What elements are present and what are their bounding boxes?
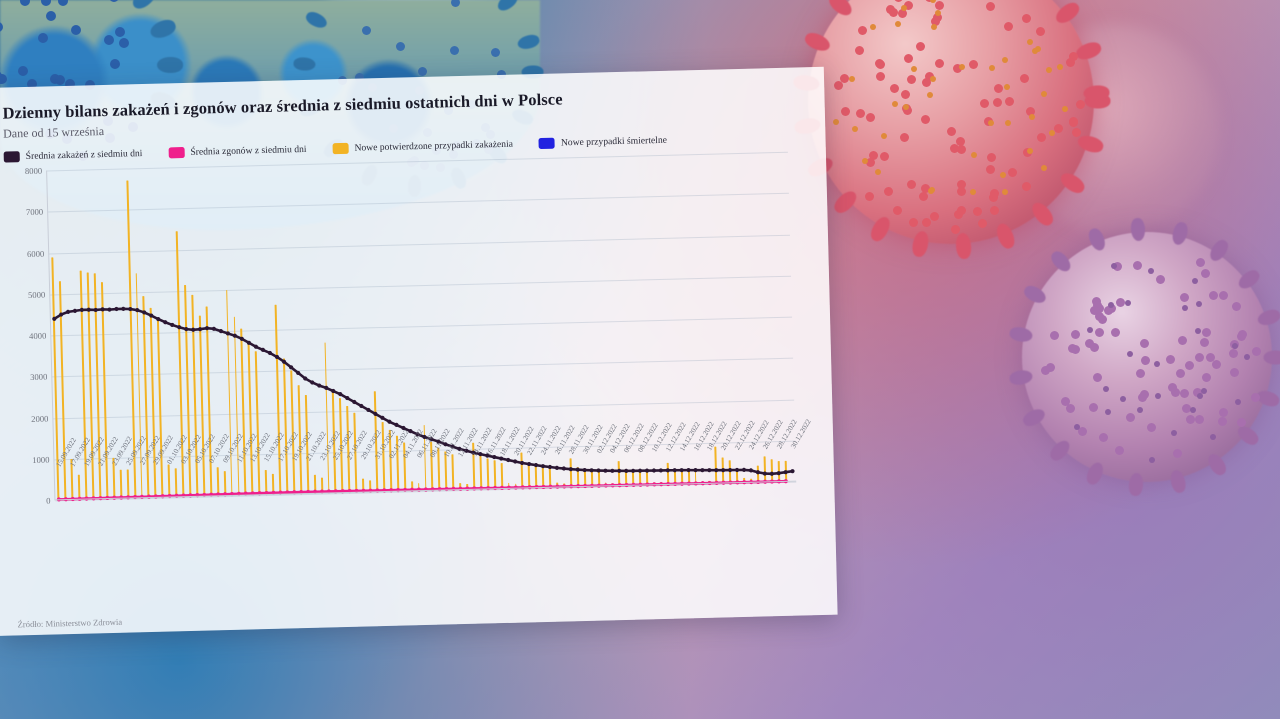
virus-surface-dot (1103, 386, 1109, 392)
y-axis-tick-label: 8000 (25, 166, 42, 176)
virus-surface-dot (115, 27, 125, 37)
virus-surface-dot (1027, 39, 1033, 45)
virus-surface-dot (1050, 331, 1059, 340)
virus-surface-dot (1076, 100, 1085, 109)
virus-surface-dot (110, 59, 120, 69)
y-axis-tick-label: 1000 (32, 454, 49, 464)
virus-surface-dot (978, 219, 987, 228)
virus-surface-dot (901, 5, 907, 11)
virus-surface-dot (46, 11, 56, 21)
virus-surface-dot (418, 67, 427, 76)
virus-surface-dot (1138, 393, 1147, 402)
y-axis-tick-label: 0 (46, 496, 51, 506)
virus-surface-dot (1200, 338, 1209, 347)
virus-surface-dot (876, 72, 885, 81)
virus-surface-dot (1087, 327, 1093, 333)
virus-surface-dot (935, 10, 941, 16)
virus-surface-dot (1005, 97, 1014, 106)
virus-surface-dot (1154, 361, 1160, 367)
virus-surface-dot (1027, 148, 1033, 154)
virus-surface-dot (1115, 446, 1124, 455)
virus-surface-dot (1093, 373, 1102, 382)
virus-surface-dot (989, 65, 995, 71)
data-point-marker (107, 307, 111, 311)
y-axis-tick-label: 4000 (29, 331, 46, 341)
virus-surface-dot (1071, 345, 1080, 354)
virus-surface-dot (880, 152, 889, 161)
legend-new-deaths[interactable]: Nowe przypadki śmiertelne (539, 135, 667, 149)
virus-surface-dot (947, 127, 956, 136)
virus-surface-dot (930, 212, 939, 221)
legend-cases-average[interactable]: Średnia zakażeń z siedmiu dni (4, 148, 143, 163)
virus-surface-dot (1201, 388, 1207, 394)
legend-new-cases[interactable]: Nowe potwierdzone przypadki zakażenia (332, 139, 513, 155)
virus-surface-dot (833, 119, 839, 125)
legend-new-deaths-swatch-icon (539, 138, 555, 149)
virus-surface-dot (58, 0, 68, 6)
virus-surface-dot (895, 21, 901, 27)
virus-surface-dot (1219, 408, 1228, 417)
y-axis-tick-label: 6000 (27, 248, 44, 258)
virus-surface-dot (71, 25, 81, 35)
virus-surface-dot (852, 126, 858, 132)
virus-surface-dot (1192, 278, 1198, 284)
virus-surface-dot (922, 218, 931, 227)
virus-surface-dot (1071, 330, 1080, 339)
y-axis-tick-label: 3000 (30, 372, 47, 382)
virus-surface-dot (1237, 418, 1246, 427)
virus-surface-dot (1133, 261, 1142, 270)
virus-surface-dot (935, 1, 944, 10)
virus-surface-dot (1141, 356, 1150, 365)
virus-surface-dot (1062, 106, 1068, 112)
virus-surface-dot (901, 90, 910, 99)
legend-deaths-average[interactable]: Średnia zgonów z siedmiu dni (168, 144, 306, 158)
virus-surface-dot (916, 42, 925, 51)
virus-surface-dot (1116, 298, 1125, 307)
virus-surface-dot (1195, 353, 1204, 362)
virus-surface-dot (1125, 300, 1131, 306)
virus-surface-dot (1166, 355, 1175, 364)
virus-surface-dot (1147, 423, 1156, 432)
virus-surface-dot (104, 35, 114, 45)
virus-surface-dot (1190, 407, 1196, 413)
data-point-marker (87, 308, 91, 312)
data-point-marker (114, 307, 118, 311)
virus-surface-dot (1201, 269, 1210, 278)
legend-deaths-average-label: Średnia zgonów z siedmiu dni (190, 144, 306, 158)
virus-surface-dot (491, 48, 500, 57)
data-point-marker (191, 328, 195, 332)
virus-surface-dot (1041, 91, 1047, 97)
virus-spike (1264, 350, 1280, 364)
chart-card: Dzienny bilans zakażeń i zgonów oraz śre… (0, 67, 838, 636)
virus-surface-dot (904, 54, 913, 63)
virus-surface-dot (1074, 424, 1080, 430)
virus-surface-dot (1235, 399, 1241, 405)
virus-surface-dot (1022, 182, 1031, 191)
virus-surface-dot (841, 107, 850, 116)
virus-surface-dot (990, 189, 999, 198)
virus-surface-dot (1105, 409, 1111, 415)
virus-surface-dot (1054, 124, 1063, 133)
virus-surface-dot (889, 8, 898, 17)
data-point-marker (94, 308, 98, 312)
virus-surface-dot (1095, 328, 1104, 337)
virus-surface-dot (986, 165, 995, 174)
legend-cases-average-swatch-icon (4, 151, 20, 162)
virus-surface-dot (1041, 165, 1047, 171)
data-point-marker (100, 307, 104, 311)
virus-surface-dot (1036, 27, 1045, 36)
virus-surface-dot (1020, 74, 1029, 83)
virus-spike (157, 57, 183, 73)
y-axis-tick-label: 7000 (26, 207, 43, 217)
virus-surface-dot (362, 26, 371, 35)
legend-cases-average-label: Średnia zakażeń z siedmiu dni (26, 148, 143, 162)
virus-surface-dot (1210, 434, 1216, 440)
legend-new-cases-swatch-icon (332, 143, 348, 154)
virus-surface-dot (1108, 302, 1114, 308)
virus-surface-dot (1029, 114, 1035, 120)
virus-surface-dot (1180, 389, 1189, 398)
virus-surface-dot (849, 76, 855, 82)
chart-plot-area: 010002000300040005000600070008000 15.09.… (4, 152, 803, 524)
virus-surface-dot (1090, 306, 1099, 315)
legend-new-cases-label: Nowe potwierdzone przypadki zakażenia (354, 139, 513, 154)
virus-surface-dot (950, 144, 959, 153)
legend-deaths-average-swatch-icon (168, 147, 184, 158)
virus-surface-dot (1156, 275, 1165, 284)
virus-surface-dot (1099, 433, 1108, 442)
virus-surface-dot (1149, 457, 1155, 463)
virus-surface-dot (957, 187, 966, 196)
virus-surface-dot (1127, 351, 1133, 357)
virus-surface-dot (1046, 67, 1052, 73)
virus-surface-dot (1182, 305, 1188, 311)
data-point-marker (121, 307, 125, 311)
virus-surface-dot (119, 38, 129, 48)
legend-new-deaths-label: Nowe przypadki śmiertelne (561, 135, 667, 149)
virus-surface-dot (1057, 64, 1063, 70)
virus-surface-dot (1212, 360, 1221, 369)
virus-surface-dot (1209, 291, 1218, 300)
virus-surface-dot (855, 46, 864, 55)
virus-surface-dot (980, 99, 989, 108)
virus-surface-dot (1069, 117, 1078, 126)
virus-surface-dot (1202, 328, 1211, 337)
virus-surface-dot (921, 115, 930, 124)
virus-surface-dot (1037, 133, 1046, 142)
chart-source: Źródło: Ministerstwo Zdrowia (17, 617, 122, 630)
virus-surface-dot (866, 113, 875, 122)
virus-surface-dot (900, 133, 909, 142)
virus-surface-dot (1155, 393, 1161, 399)
virus-surface-dot (927, 92, 933, 98)
virus-surface-dot (884, 187, 893, 196)
virus-surface-dot (1148, 268, 1154, 274)
virus-surface-dot (890, 84, 899, 93)
virus-surface-dot (1004, 84, 1010, 90)
virus-surface-dot (1022, 14, 1031, 23)
virus-surface-dot (969, 60, 978, 69)
virus-surface-dot (1049, 130, 1055, 136)
virus-surface-dot (1061, 397, 1070, 406)
y-axis-tick-label: 2000 (31, 413, 48, 423)
virus-surface-dot (1168, 383, 1177, 392)
y-axis-tick-label: 5000 (28, 289, 45, 299)
virus-surface-dot (1046, 363, 1055, 372)
virus-surface-dot (1206, 353, 1215, 362)
virus-surface-dot (856, 109, 865, 118)
virus-surface-dot (1232, 302, 1241, 311)
virus-surface-dot (1218, 417, 1227, 426)
